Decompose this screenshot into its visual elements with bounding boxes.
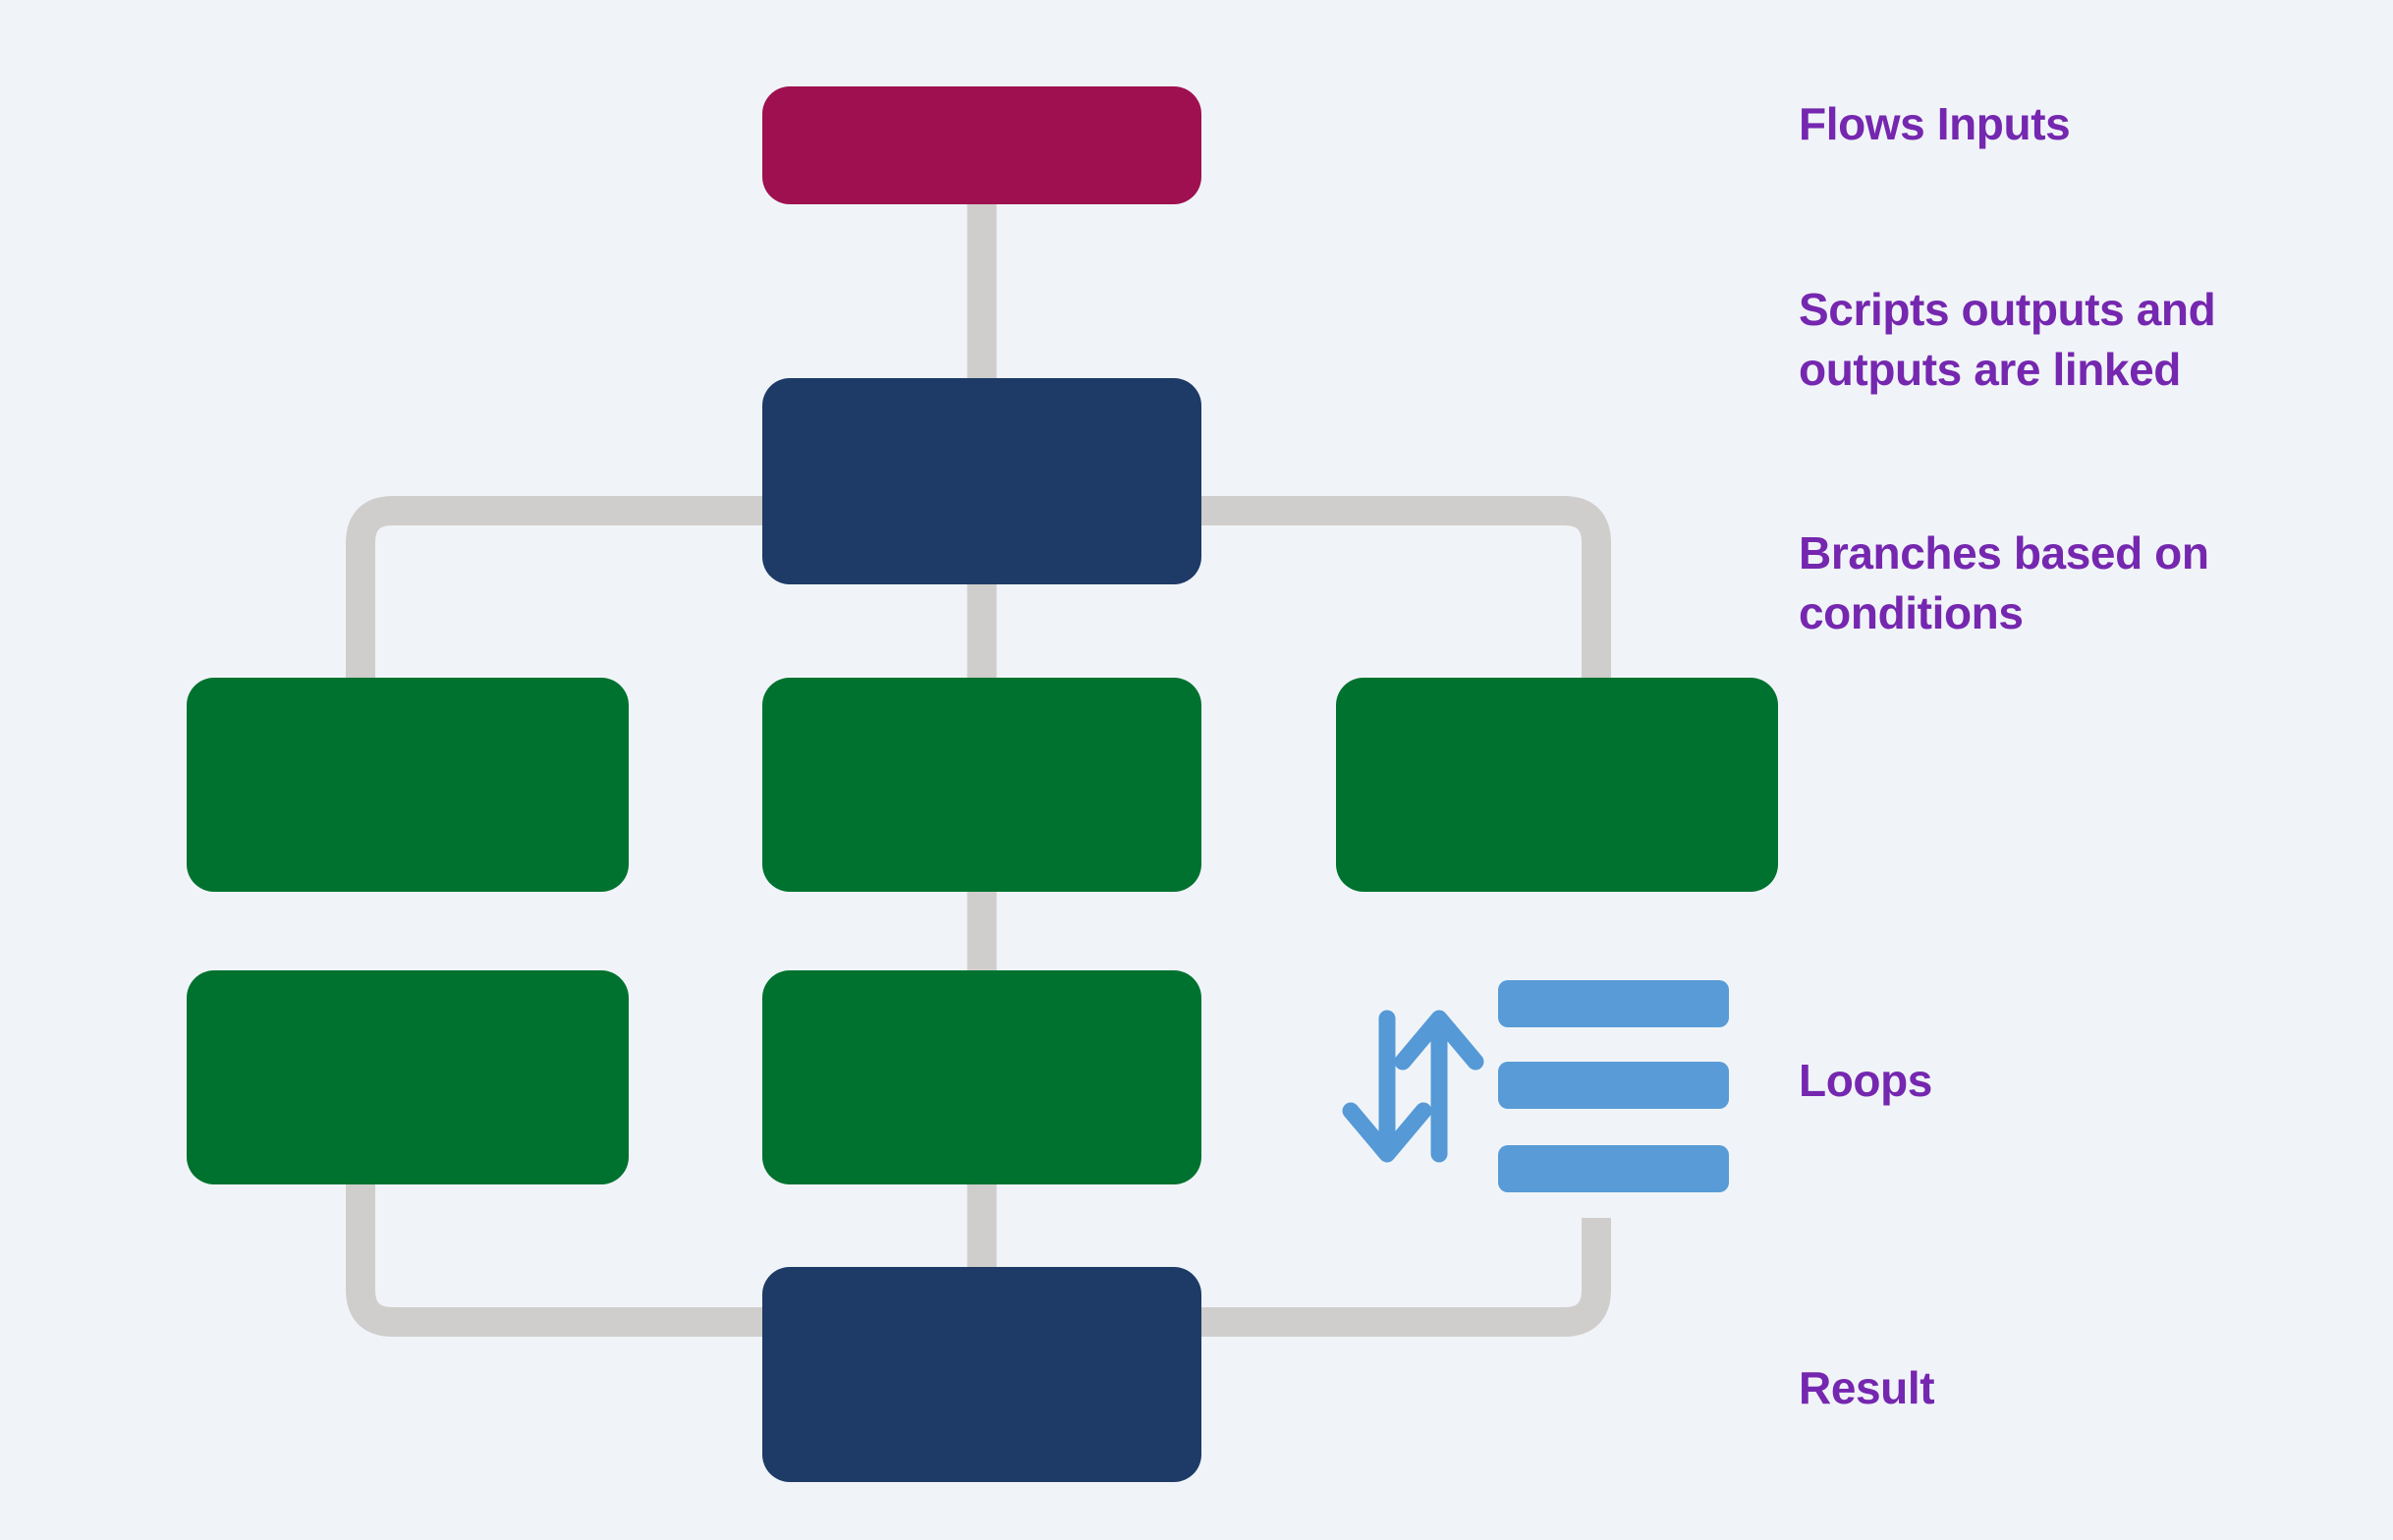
label-result: Result — [1799, 1358, 2388, 1418]
loop-bar-1 — [1498, 980, 1729, 1027]
node-flow-input[interactable] — [762, 86, 1201, 204]
loop-bars — [1498, 980, 1729, 1192]
flow-diagram-canvas: Flows Inputs Scripts outputs and outputs… — [0, 0, 2393, 1540]
flow-diagram-svg — [0, 0, 2393, 1540]
node-branch-right[interactable] — [1336, 678, 1778, 892]
node-branch-center[interactable] — [762, 678, 1201, 892]
label-loops: Loops — [1799, 1051, 2388, 1111]
label-scripts-outputs: Scripts outputs and outputs are linked — [1799, 280, 2388, 399]
node-loop-center[interactable] — [762, 970, 1201, 1184]
loop-bar-3 — [1498, 1145, 1729, 1192]
label-branches: Branches based on conditions — [1799, 523, 2349, 642]
connector-script-to-branch-left — [361, 511, 776, 692]
node-loop-left[interactable] — [187, 970, 629, 1184]
node-branch-left[interactable] — [187, 678, 629, 892]
loop-bar-2 — [1498, 1062, 1729, 1109]
node-result[interactable] — [762, 1267, 1201, 1482]
node-script-top[interactable] — [762, 378, 1201, 584]
loops-icon — [1351, 980, 1729, 1192]
label-flows-inputs: Flows Inputs — [1799, 94, 2388, 154]
connector-script-to-branch-right — [1189, 511, 1596, 692]
